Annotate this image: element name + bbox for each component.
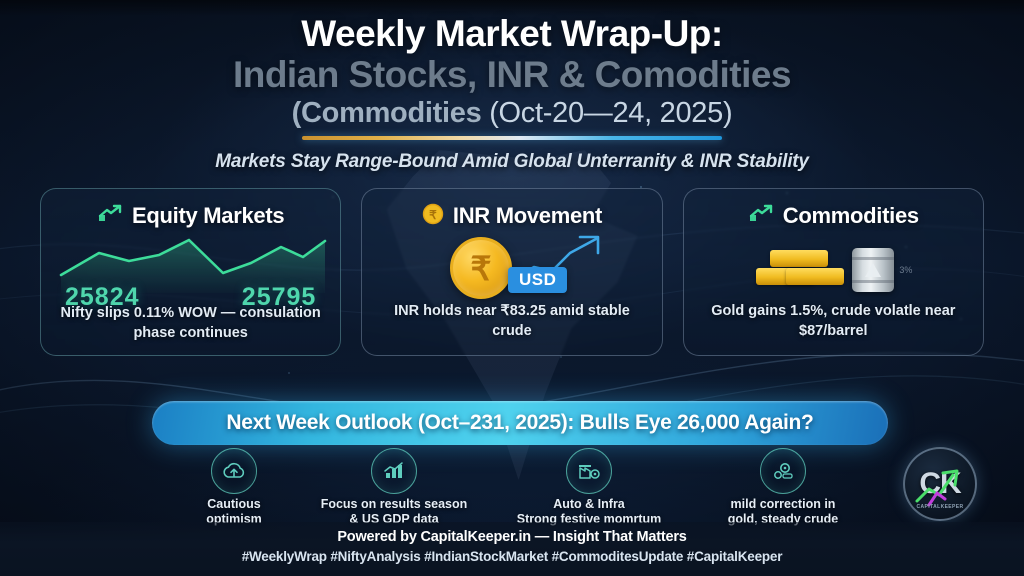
feature-gold-crude[interactable]: mild correction in gold, steady crude: [674, 448, 892, 528]
feature-results-season[interactable]: Focus on results season & US GDP data: [294, 448, 494, 528]
chart-up-icon: [748, 204, 774, 229]
factory-gear-icon: [566, 448, 612, 494]
card-title: INR Movement: [453, 203, 602, 229]
header: Weekly Market Wrap-Up: Indian Stocks, IN…: [0, 14, 1024, 173]
card-note: INR holds near ₹83.25 amid stable crude: [376, 302, 647, 341]
card-note: Nifty slips 0.11% WOW — consulation phas…: [55, 304, 326, 343]
rupee-coin: ₹: [450, 237, 512, 299]
equity-sparkline-chart: 25824 25795: [55, 235, 326, 293]
feature-label-line1: Auto & Infra: [553, 497, 625, 511]
feature-cautious-optimism[interactable]: Cautious optimism: [176, 448, 292, 528]
outlook-feature-row: Cautious optimism Focus on results seaso…: [176, 448, 892, 510]
feature-auto-infra[interactable]: Auto & Infra Strong festive momrtum: [496, 448, 682, 528]
card-commodities[interactable]: Commodities 3% Gold gains 1.5%, crude vo…: [683, 188, 984, 356]
page-title-line3: (Commodities (Oct-20—24, 2025): [0, 96, 1024, 131]
subtitle: Markets Stay Range-Bound Amid Global Unt…: [0, 151, 1024, 173]
commodity-pct-mark: 3%: [899, 265, 912, 275]
page-title-line3-bold: (Commodities: [292, 97, 482, 129]
accent-divider: [302, 136, 722, 140]
card-note: Gold gains 1.5%, crude volatle near $87/…: [698, 302, 969, 341]
rupee-symbol: ₹: [470, 252, 491, 285]
page-title-line2: Indian Stocks, INR & Comodities: [0, 54, 1024, 95]
footer-credit: Powered by CapitalKeeper.in — Insight Th…: [0, 529, 1024, 545]
svg-text:₹: ₹: [429, 208, 437, 222]
commodities-illustration: 3%: [698, 233, 969, 307]
inr-illustration: ₹ USD: [376, 233, 647, 307]
usd-badge: USD: [508, 267, 567, 293]
gears-icon: [760, 448, 806, 494]
card-title: Equity Markets: [132, 203, 284, 229]
card-header: Equity Markets: [55, 201, 326, 231]
card-header: Commodities: [698, 201, 969, 231]
summary-cards: Equity Markets 25824 25795: [40, 188, 984, 356]
feature-label-line1: Cautious: [207, 497, 260, 511]
capitalkeeper-logo[interactable]: CK CAPITALKEEPER: [903, 447, 977, 521]
gold-bars-icon: [754, 244, 850, 296]
page-title-line1: Weekly Market Wrap-Up:: [0, 14, 1024, 54]
card-equity-markets[interactable]: Equity Markets 25824 25795: [40, 188, 341, 356]
bar-chart-icon: [371, 448, 417, 494]
feature-label-line1: mild correction in: [731, 497, 836, 511]
cloud-upload-icon: [211, 448, 257, 494]
oil-barrel-icon: [852, 248, 894, 292]
card-inr-movement[interactable]: ₹ INR Movement ₹ USD INR holds near ₹83.…: [361, 188, 662, 356]
footer: Powered by CapitalKeeper.in — Insight Th…: [0, 522, 1024, 576]
infographic-canvas: Weekly Market Wrap-Up: Indian Stocks, IN…: [0, 0, 1024, 576]
footer-hashtags: #WeeklyWrap #NiftyAnalysis #IndianStockM…: [0, 549, 1024, 564]
rupee-coin-icon: ₹: [422, 203, 444, 230]
chart-up-icon: [97, 204, 123, 229]
logo-caption: CAPITALKEEPER: [905, 504, 975, 510]
logo-arrow-icon: [913, 465, 971, 509]
next-week-outlook-banner[interactable]: Next Week Outlook (Oct–231, 2025): Bulls…: [152, 401, 888, 445]
card-header: ₹ INR Movement: [376, 201, 647, 231]
page-title-line3-date: (Oct-20—24, 2025): [489, 97, 732, 129]
banner-text: Next Week Outlook (Oct–231, 2025): Bulls…: [208, 412, 831, 434]
card-title: Commodities: [783, 203, 919, 229]
feature-label-line1: Focus on results season: [321, 497, 468, 511]
